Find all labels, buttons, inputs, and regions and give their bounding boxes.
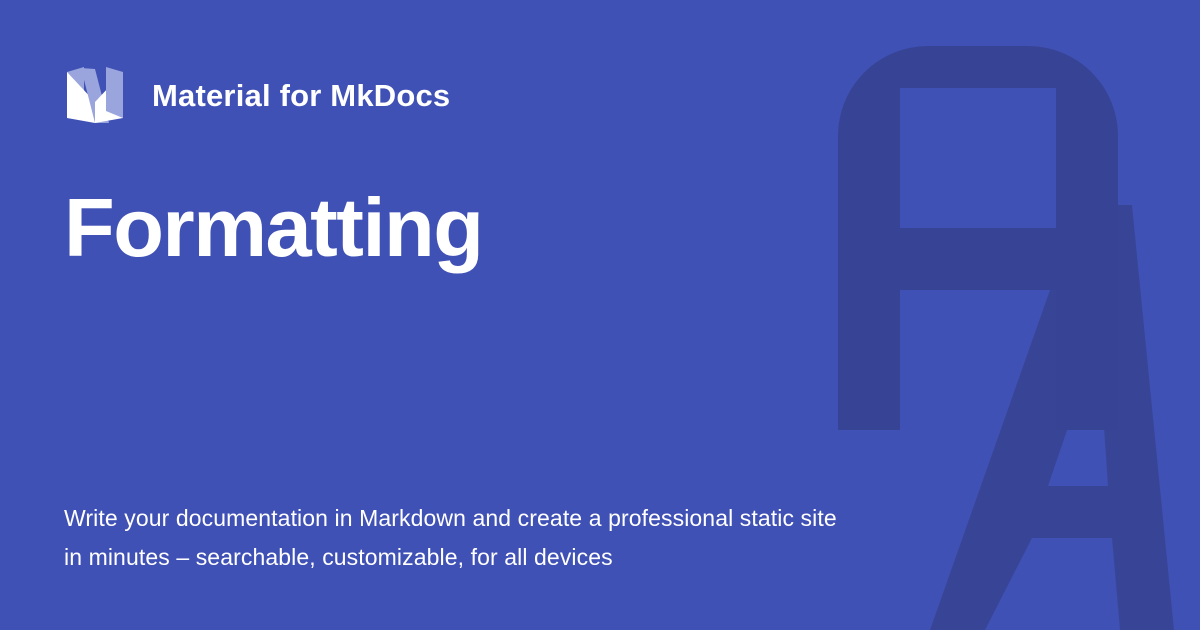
page-description-line-2: in minutes – searchable, customizable, f… (64, 538, 894, 578)
social-card: Material for MkDocs Formatting Write you… (0, 0, 1200, 630)
material-mkdocs-logo-icon (64, 64, 126, 126)
brand-header: Material for MkDocs (64, 64, 450, 126)
page-description-line-1: Write your documentation in Markdown and… (64, 499, 894, 539)
page-title: Formatting (64, 184, 840, 271)
brand-name: Material for MkDocs (152, 80, 450, 111)
page-description: Write your documentation in Markdown and… (64, 499, 894, 578)
